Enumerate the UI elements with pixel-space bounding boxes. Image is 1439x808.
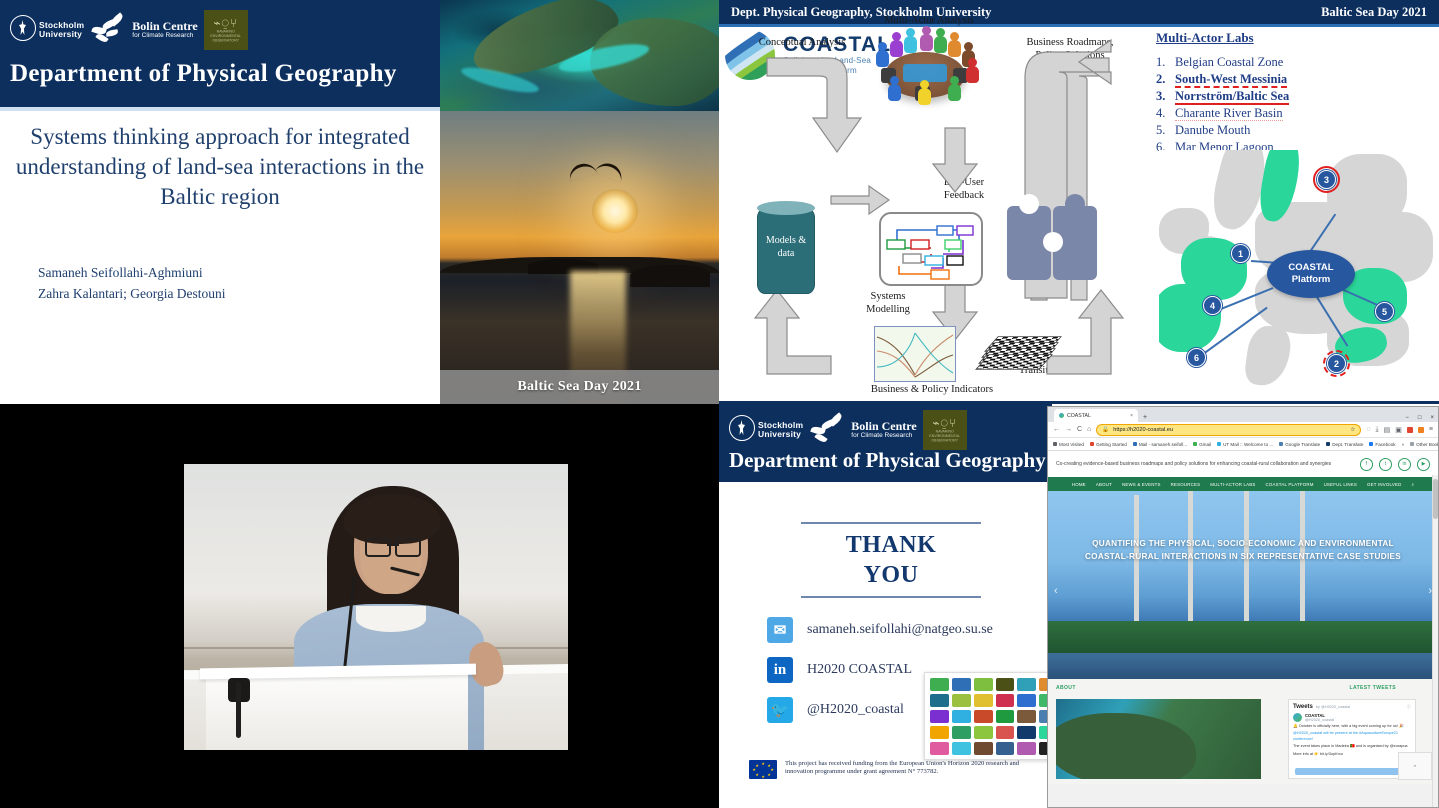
contact-twitter-text: @H2020_coastal [807, 702, 904, 718]
map-pin-3[interactable]: 3 [1317, 170, 1336, 189]
bookmark-dept-translate[interactable]: Dept. Translate [1326, 442, 1363, 447]
browser-window[interactable]: COASTAL × + − □ × ← → C ⌂ 🔒 https://h202… [1047, 406, 1439, 808]
navarino-glyphs: ⌁⍜⑂ [213, 18, 238, 29]
eu-funding-text: This project has received funding from t… [785, 760, 1035, 777]
bolin-centre-logo: Bolin Centre for Climate Research [809, 413, 916, 447]
speaker-video-frame [184, 464, 568, 750]
lab-item-2: 2.South-West Messinia [1156, 71, 1289, 88]
sun [592, 189, 638, 233]
site-nav-get-involved[interactable]: GET INVOLVED [1367, 482, 1401, 487]
url-text: https://h2020-coastal.eu [1113, 427, 1173, 433]
map-pin-1[interactable]: 1 [1231, 244, 1250, 263]
linkedin-icon: in [767, 657, 793, 683]
tweet-cta-button[interactable] [1295, 768, 1409, 775]
section-heading-tweets: LATEST TWEETS [1350, 685, 1397, 691]
site-nav-bar: HOME ABOUT NEWS & EVENTS RESOURCES MULTI… [1048, 477, 1438, 491]
lab-item-5: 5.Danube Mouth [1156, 122, 1289, 139]
close-icon[interactable]: × [1130, 413, 1133, 419]
bolin-name: Bolin Centre [851, 420, 916, 432]
social-icon-li[interactable]: in [1398, 458, 1411, 471]
raster-layers-icon [981, 330, 1055, 378]
bookmark-getting-started[interactable]: Getting Started [1090, 442, 1127, 447]
social-icon-fb[interactable]: f [1360, 458, 1373, 471]
other-bookmarks-folder[interactable]: Other Bookmarks [1410, 442, 1438, 447]
thank-you-block: THANK YOU [801, 516, 981, 604]
stockholm-university-wordmark: Stockholm University [39, 21, 84, 39]
menu-icon[interactable]: ≡ [1429, 426, 1433, 433]
window-controls: − □ × [1405, 415, 1434, 421]
thank-you-line-2: YOU [801, 560, 981, 590]
tweet-account-handle: @H2020_coastal [1305, 718, 1334, 722]
page-scrollbar[interactable] [1432, 475, 1438, 807]
site-hero-banner: QUANTIFING THE PHYSICAL, SOCIO-ECONOMIC … [1048, 491, 1438, 679]
close-window-button[interactable]: × [1430, 415, 1434, 421]
site-nav-about[interactable]: ABOUT [1096, 482, 1112, 487]
toolbar-actions: ◌ ⤓ ▤ ▣ ≡ [1366, 426, 1433, 434]
reload-icon[interactable]: C [1077, 426, 1082, 433]
carousel-prev-icon[interactable]: ‹ [1054, 585, 1058, 597]
photo-caption: Baltic Sea Day 2021 [440, 370, 719, 404]
favicon [1059, 413, 1064, 418]
sidebar-icon[interactable]: ▣ [1395, 426, 1402, 434]
tweet-body-3: The event takes place in Madeira 🇵🇹 and … [1293, 744, 1411, 749]
header-rule [0, 107, 440, 111]
recaptcha-badge[interactable]: ⟳ [1398, 752, 1432, 780]
europe-case-study-map: COASTAL Platform 1 2 3 4 5 6 [1159, 150, 1437, 400]
map-pin-5[interactable]: 5 [1375, 302, 1394, 321]
multi-actor-labs-heading: Multi-Actor Labs [1156, 30, 1289, 46]
department-title: Department of Physical Geography [10, 60, 397, 88]
contact-linkedin-text: H2020 COASTAL [807, 662, 912, 678]
slide-header-band: Stockholm University Bolin Centre for [0, 0, 440, 111]
lab-item-1: 1.Belgian Coastal Zone [1156, 54, 1289, 71]
olive-branch-icon [90, 13, 130, 47]
star-icon[interactable]: ☆ [1350, 427, 1355, 433]
back-icon[interactable]: ← [1053, 426, 1060, 433]
bookmarks-overflow-icon[interactable]: » [1402, 442, 1405, 447]
eu-flag-icon: ★★★ ★★★ ★★ [749, 760, 777, 779]
site-nav-useful-links[interactable]: USEFUL LINKS [1324, 482, 1357, 487]
lab-item-3: 3.Norrström/Baltic Sea [1156, 88, 1289, 105]
glasses-icon [365, 538, 421, 553]
address-bar[interactable]: 🔒 https://h2020-coastal.eu ☆ [1096, 424, 1361, 436]
contact-row-email[interactable]: ✉ samaneh.seifollahi@natgeo.su.se [767, 610, 993, 650]
site-nav-coastal-platform[interactable]: COASTAL PLATFORM [1266, 482, 1314, 487]
map-pin-2[interactable]: 2 [1327, 354, 1346, 373]
baltic-satellite-photo [440, 0, 719, 111]
tweet-body-4: More info at 👉 bit.ly/3opKrxu [1293, 752, 1411, 757]
author-line-1: Samaneh Seifollahi-Aghmiuni [38, 262, 226, 283]
tab-title: COASTAL [1067, 413, 1091, 419]
maximize-button[interactable]: □ [1418, 415, 1422, 421]
download-icon[interactable]: ⤓ [1376, 426, 1379, 434]
bolin-centre-logo: Bolin Centre for Climate Research [90, 13, 197, 47]
site-nav-resources[interactable]: RESOURCES [1171, 482, 1201, 487]
bookmarks-bar: Most Visited Getting Started Mail - sama… [1048, 438, 1438, 451]
section-heading-about: ABOUT [1056, 685, 1076, 691]
tweet-body-2: @H2020_coastal will be present at the #A… [1293, 731, 1411, 742]
browser-toolbar: ← → C ⌂ 🔒 https://h2020-coastal.eu ☆ ◌ ⤓… [1048, 422, 1438, 438]
minimize-button[interactable]: − [1405, 415, 1409, 421]
stockholm-university-crest-icon [10, 15, 36, 45]
author-line-2: Zahra Kalantari; Georgia Destouni [38, 283, 226, 304]
screenshot-canvas: Stockholm University Bolin Centre for [0, 0, 1439, 808]
extension-icon-1[interactable] [1407, 427, 1413, 433]
social-icon-yt[interactable]: ▶ [1417, 458, 1430, 471]
eu-funding-footer: ★★★ ★★★ ★★ This project has received fun… [749, 760, 1035, 779]
multi-actor-table-illustration [869, 28, 981, 114]
navarino-observatory-logo: ⌁⍜⑂ NAVARINO ENVIRONMENTAL OBSERVATORY [204, 10, 248, 50]
coastal-concept-slide: Dept. Physical Geography, Stockholm Univ… [719, 0, 1439, 404]
baltic-sunset-photo: Baltic Sea Day 2021 [440, 111, 719, 404]
presentation-title: Systems thinking approach for integrated… [0, 122, 440, 212]
authors-block: Samaneh Seifollahi-Aghmiuni Zahra Kalant… [38, 262, 226, 304]
tweet-body-1: 🔔 October is officially here, with a big… [1293, 724, 1411, 729]
bookmark-most-visited[interactable]: Most Visited [1053, 442, 1084, 447]
multi-actor-labs-list: Multi-Actor Labs 1.Belgian Coastal Zone … [1156, 30, 1289, 156]
bolin-name: Bolin Centre [132, 20, 197, 32]
site-lower-section: ABOUT LATEST TWEETS Tweets by @H2020_coa… [1048, 679, 1438, 784]
avatar [1293, 713, 1302, 722]
bolin-subtitle: for Climate Research [851, 432, 916, 440]
department-title: Department of Physical Geography [729, 448, 1046, 473]
map-pin-4[interactable]: 4 [1203, 296, 1222, 315]
olive-branch-icon [809, 413, 849, 447]
tweets-widget-title: Tweets [1293, 704, 1313, 710]
mail-icon: ✉ [767, 617, 793, 643]
info-icon[interactable]: ⓘ [1407, 704, 1411, 710]
search-icon[interactable]: ⌕ [1411, 482, 1414, 487]
bookmark-mail[interactable]: Mail - samaneh.seifoll... [1133, 442, 1187, 447]
browser-tab-strip: COASTAL × + − □ × [1048, 407, 1438, 422]
site-nav-home[interactable]: HOME [1072, 482, 1086, 487]
library-icon[interactable]: ▤ [1384, 426, 1391, 434]
site-nav-multi-actor-labs[interactable]: MULTI-ACTOR LABS [1210, 482, 1255, 487]
slide-bar-right: Baltic Sea Day 2021 [1321, 5, 1427, 20]
bookmark-utmail[interactable]: UT Mail :: Welcome to ... [1217, 442, 1273, 447]
business-policy-indicator-chart [874, 326, 956, 382]
title-slide: Stockholm University Bolin Centre for [0, 0, 719, 404]
coastal-platform-node: COASTAL Platform [1267, 250, 1355, 298]
contact-email-text: samaneh.seifollahi@natgeo.su.se [807, 622, 993, 638]
shield-icon[interactable]: ◌ [1366, 426, 1370, 433]
navarino-caption: NAVARINO ENVIRONMENTAL OBSERVATORY [204, 29, 248, 42]
stockholm-university-wordmark: Stockholm University [758, 421, 803, 439]
browser-tab-coastal[interactable]: COASTAL × [1054, 409, 1138, 422]
site-header: Co-creating evidence-based business road… [1048, 451, 1438, 477]
partner-logos-grid [924, 672, 1064, 760]
forward-icon[interactable]: → [1065, 426, 1072, 433]
bookmark-facebook[interactable]: Facebook [1369, 442, 1395, 447]
tweets-widget-subtitle: by @H2020_coastal [1316, 705, 1350, 709]
site-nav-news-events[interactable]: NEWS & EVENTS [1122, 482, 1161, 487]
social-icon-tw[interactable]: t [1379, 458, 1392, 471]
navarino-observatory-logo: ⌁⍜⑂ NAVARINO ENVIRONMENTAL OBSERVATORY [923, 410, 967, 450]
systems-model-diagram [879, 212, 983, 286]
lock-icon: 🔒 [1102, 427, 1109, 433]
bolin-subtitle: for Climate Research [132, 32, 197, 40]
models-and-data-database-icon: Models & data [757, 208, 815, 294]
hero-heading: QUANTIFING THE PHYSICAL, SOCIO-ECONOMIC … [1070, 537, 1416, 563]
logo-row: Stockholm University Bolin Centre for [10, 8, 248, 52]
thank-you-line-1: THANK [801, 530, 981, 560]
twitter-timeline-widget[interactable]: Tweets by @H2020_coastal ⓘ COASTAL @H202… [1288, 699, 1416, 779]
site-tagline: Co-creating evidence-based business road… [1056, 461, 1354, 468]
twitter-icon: 🐦 [767, 697, 793, 723]
extension-icon-2[interactable] [1418, 427, 1424, 433]
lab-item-4: 4.Charante River Basin [1156, 105, 1289, 122]
new-tab-button[interactable]: + [1143, 414, 1147, 421]
thanks-header-band: Stockholm University Bolin Centre for Cl… [719, 404, 1052, 482]
seagull-silhouette [568, 161, 624, 183]
home-icon[interactable]: ⌂ [1087, 426, 1091, 433]
title-block: Systems thinking approach for integrated… [0, 122, 440, 212]
stockholm-university-crest-icon [729, 415, 755, 445]
bookmark-google-translate[interactable]: Google Translate [1279, 442, 1320, 447]
map-pin-6[interactable]: 6 [1187, 348, 1206, 367]
about-coastal-photo [1056, 699, 1261, 779]
puzzle-pieces-icon [1007, 206, 1099, 286]
bookmark-gmail[interactable]: Gmail [1193, 442, 1211, 447]
